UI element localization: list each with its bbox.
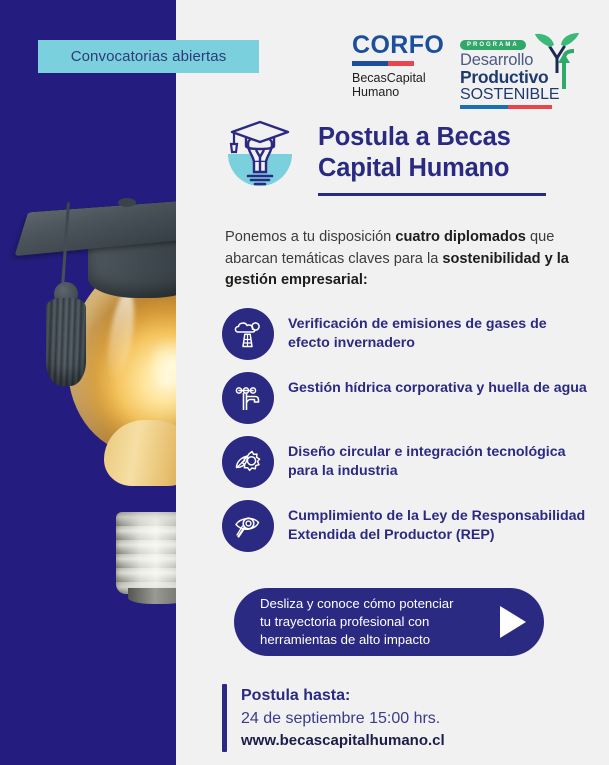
- page-title: Postula a Becas Capital Humano: [318, 122, 588, 184]
- sprout-arrow-icon: [534, 33, 580, 91]
- magnifier-eye-icon: [222, 500, 274, 552]
- swipe-cta-line-3: herramientas de alto impacto: [260, 631, 494, 649]
- gear-leaf-icon: [222, 436, 274, 488]
- website-link[interactable]: www.becascapitalhumano.cl: [241, 730, 445, 751]
- corfo-flag-rule: [352, 61, 414, 66]
- list-item: Verificación de emisiones de gases de ef…: [222, 308, 592, 360]
- programa-desarrollo-productivo-sostenible-logo: PROGRAMA Desarrollo Productivo SOSTENIBL…: [460, 33, 578, 109]
- page-title-line-1: Postula a Becas: [318, 122, 588, 153]
- corfo-logo: CORFO BecasCapital Humano: [352, 33, 444, 99]
- intro-part-1: Ponemos a tu disposición: [225, 229, 395, 245]
- deadline-date: 24 de septiembre 15:00 hrs.: [241, 708, 445, 731]
- list-item-label: Verificación de emisiones de gases de ef…: [288, 308, 592, 353]
- footer-accent-bar: [222, 684, 227, 752]
- cloud-emissions-icon: [222, 308, 274, 360]
- corfo-sub-line-1: BecasCapital: [352, 71, 444, 85]
- swipe-cta-button[interactable]: Desliza y conoce cómo potenciar tu traye…: [234, 588, 544, 656]
- deadline-footer: Postula hasta: 24 de septiembre 15:00 hr…: [222, 684, 445, 752]
- intro-paragraph: Ponemos a tu disposición cuatro diplomad…: [225, 227, 585, 292]
- graduation-cap-tassel-fringe: [46, 298, 86, 386]
- water-tap-icon: [222, 372, 274, 424]
- intro-bold-1: cuatro diplomados: [395, 229, 526, 245]
- graduation-cap-button: [118, 198, 136, 207]
- corfo-sub-line-2: Humano: [352, 85, 444, 99]
- list-item-label: Diseño circular e integración tecnológic…: [288, 436, 592, 481]
- list-item: Gestión hídrica corporativa y huella de …: [222, 372, 592, 424]
- swipe-cta-line-2: tu trayectoria profesional con: [260, 613, 494, 631]
- swipe-cta-label: Desliza y conoce cómo potenciar tu traye…: [260, 595, 494, 649]
- page-title-line-2: Capital Humano: [318, 153, 588, 184]
- logo-group: CORFO BecasCapital Humano PROGRAMA Desar…: [352, 33, 584, 99]
- deadline-heading: Postula hasta:: [241, 685, 445, 708]
- lightbulb-with-graduation-cap-photo: [0, 0, 176, 765]
- swipe-cta-line-1: Desliza y conoce cómo potenciar: [260, 595, 494, 613]
- left-artwork-panel: [0, 0, 176, 765]
- corfo-wordmark: CORFO: [352, 33, 444, 58]
- lightbulb-base-tip: [128, 588, 176, 604]
- lightbulb-metal-base: [116, 512, 176, 594]
- status-badge: Convocatorias abiertas: [38, 40, 259, 73]
- poster-root: Convocatorias abiertas CORFO BecasCapita…: [0, 0, 609, 765]
- list-item-label: Cumplimiento de la Ley de Responsabilida…: [288, 500, 592, 545]
- title-divider: [318, 193, 546, 196]
- status-badge-label: Convocatorias abiertas: [71, 48, 227, 65]
- list-item-label: Gestión hídrica corporativa y huella de …: [288, 372, 587, 398]
- list-item: Diseño circular e integración tecnológic…: [222, 436, 592, 488]
- play-triangle-icon[interactable]: [500, 606, 526, 638]
- programa-tag: PROGRAMA: [460, 40, 526, 50]
- programa-flag-rule: [460, 105, 552, 109]
- feature-list: Verificación de emisiones de gases de ef…: [222, 308, 592, 564]
- list-item: Cumplimiento de la Ley de Responsabilida…: [222, 500, 592, 552]
- graduation-cap-lightbulb-icon: [220, 110, 300, 190]
